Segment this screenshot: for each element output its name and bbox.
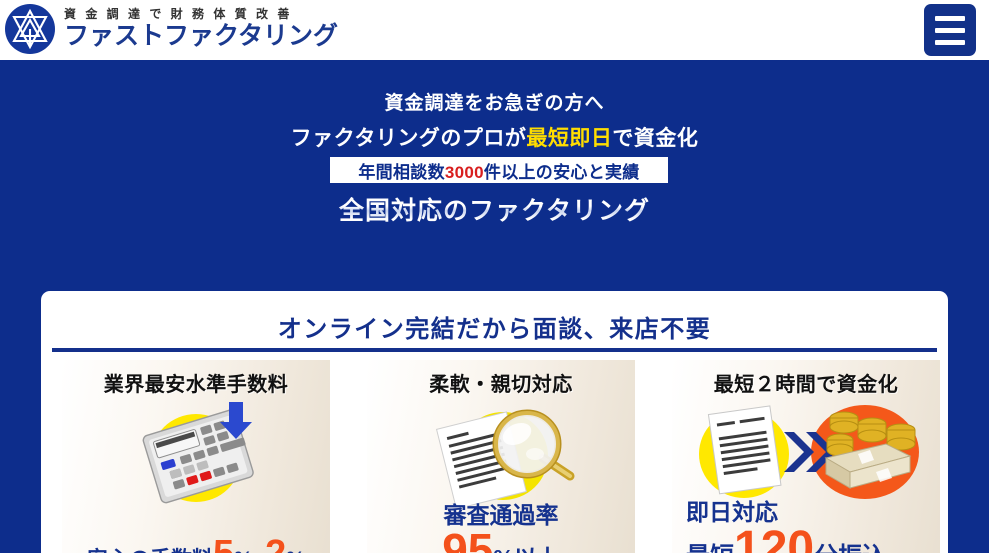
feature-panel-fee[interactable]: 業界最安水準手数料 (62, 360, 330, 553)
panel-footer-row-1: 即日対応 (686, 501, 940, 524)
panel-footer-separator: ~ (253, 548, 265, 553)
menu-bar-3 (935, 40, 965, 45)
panel-footer-label: 審査通過率 (367, 504, 635, 527)
star-hexagram-logo-icon (4, 3, 56, 55)
panel-heading: 業界最安水準手数料 (62, 368, 330, 397)
panel-heading: 柔軟・親切対応 (367, 368, 635, 397)
panel-footer: 安心の手数料5%~2% (62, 535, 330, 553)
panel-footer-value-1: 120 (734, 525, 814, 553)
hero-headline-2-highlight: 最短即日 (526, 127, 612, 150)
features-card-title: オンライン完結だから面談、来店不要 (41, 309, 948, 344)
site-header: 資 金 調 達 で 財 務 体 質 改 善 ファストファクタリング (0, 0, 989, 60)
document-to-money-transfer-icon (672, 396, 940, 506)
logo-tagline: 資 金 調 達 で 財 務 体 質 改 善 (64, 7, 338, 22)
panel-footer-value-1: 95 (442, 527, 493, 553)
panel-footer-value-2: 2 (265, 535, 286, 553)
panel-footer-row-2: 最短120分振込 (686, 543, 886, 553)
panel-heading: 最短２時間で資金化 (672, 368, 940, 397)
feature-panel-approval[interactable]: 柔軟・親切対応 (367, 360, 635, 553)
feature-panel-speed[interactable]: 最短２時間で資金化 (672, 360, 940, 553)
menu-bar-2 (935, 28, 965, 33)
brand-name: ファストファクタリング (64, 22, 338, 51)
hero-headline-2-post: で資金化 (612, 127, 698, 150)
panel-footer-value-1: 5 (213, 535, 234, 553)
panel-footer-label: 安心の手数料 (87, 548, 213, 553)
hero-stat-badge-text: 年間相談数3000件以上の安心と実績 (358, 158, 639, 183)
feature-panel-list: 業界最安水準手数料 (62, 360, 940, 553)
hamburger-menu-icon[interactable] (924, 4, 976, 56)
logo-link[interactable]: 資 金 調 達 で 財 務 体 質 改 善 ファストファクタリング (4, 3, 338, 55)
panel-footer-label: 最短 (686, 543, 734, 553)
panel-footer: 即日対応 最短120分振込 (672, 501, 940, 553)
hero-headline-3: 全国対応のファクタリング (0, 191, 989, 227)
logo-text-block: 資 金 調 達 で 財 務 体 質 改 善 ファストファクタリング (64, 7, 338, 51)
hero-headline-1: 資金調達をお急ぎの方へ (0, 88, 989, 115)
panel-footer-unit-2: % (286, 548, 305, 553)
magnifier-over-document-icon (367, 396, 635, 506)
panel-footer: 審査通過率95%以上 (367, 504, 635, 553)
badge-prefix: 年間相談数 (358, 163, 445, 182)
panel-footer-unit-1: 分振込 (814, 543, 886, 553)
features-card: オンライン完結だから面談、来店不要 業界最安水準手数料 (41, 291, 948, 553)
hero-headline-2: ファクタリングのプロが最短即日で資金化 (0, 122, 989, 152)
page-root: 資 金 調 達 で 財 務 体 質 改 善 ファストファクタリング 資金調達をお… (0, 0, 989, 553)
panel-footer-unit-1: % (234, 548, 253, 553)
panel-footer-unit-1: %以上 (493, 545, 559, 553)
badge-suffix: 件以上の安心と実績 (484, 163, 640, 182)
menu-bar-1 (935, 16, 965, 21)
calculator-with-down-arrow-icon (62, 396, 330, 506)
hero-section: 資金調達をお急ぎの方へ ファクタリングのプロが最短即日で資金化 年間相談数300… (0, 60, 989, 553)
hero-headline-2-pre: ファクタリングのプロが (291, 127, 527, 150)
hero-stat-badge: 年間相談数3000件以上の安心と実績 (330, 157, 668, 183)
badge-number: 3000 (445, 163, 484, 182)
card-divider (52, 348, 937, 352)
